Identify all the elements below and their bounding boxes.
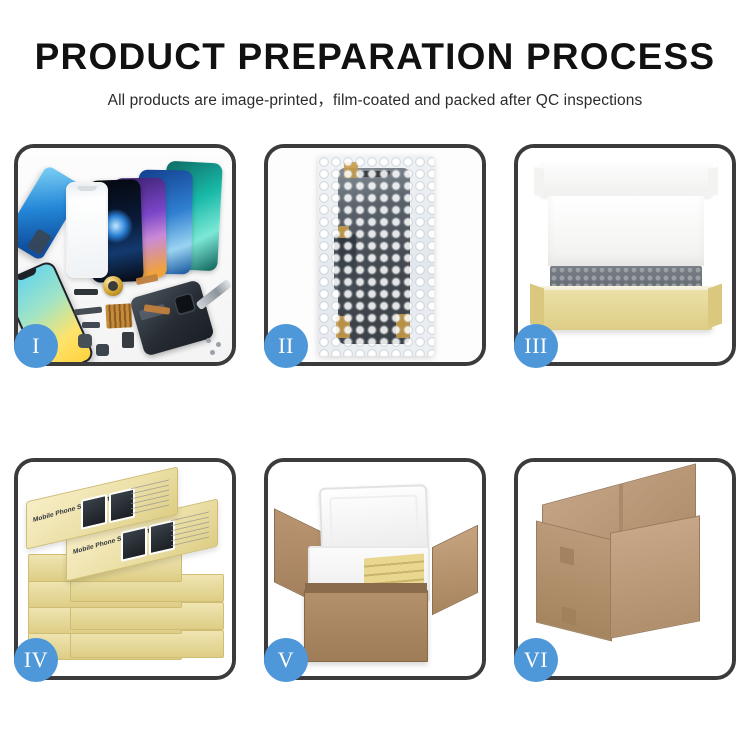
page-title: PRODUCT PREPARATION PROCESS [0, 38, 750, 75]
component-bar [74, 289, 98, 295]
tape-piece-1 [344, 162, 358, 178]
sim-tray [122, 332, 134, 348]
box-art-swatch [121, 526, 147, 562]
foam-box-lid [319, 484, 429, 554]
header: PRODUCT PREPARATION PROCESS All products… [0, 0, 750, 110]
kraft-box-base [540, 290, 712, 330]
chip-array [105, 303, 132, 328]
carton-tape-2 [562, 606, 576, 625]
step-badge-5: V [264, 638, 308, 682]
speaker-coil [103, 276, 123, 296]
flex-cable-3 [74, 307, 102, 316]
process-step-panel-3: III [514, 144, 736, 366]
stacked-box [70, 630, 224, 658]
box-lid-open [540, 162, 712, 198]
battery-connector [96, 344, 109, 356]
process-step-panel-2: II [264, 144, 486, 366]
camera-module [78, 334, 92, 348]
screen-flex-cable [334, 234, 356, 290]
flex-cable-4 [82, 322, 100, 328]
box-spec-lines [171, 510, 209, 547]
bubble-wrap-bag [318, 156, 434, 356]
tape-piece-2 [338, 226, 349, 238]
step-badge-4: IV [14, 638, 58, 682]
tempered-glass-screen [66, 182, 108, 278]
box-art-swatch [81, 494, 107, 530]
process-step-grid: I II [14, 144, 736, 682]
process-step-panel-5: V [264, 458, 486, 680]
phone-back-housing [129, 279, 215, 357]
box-stack: Mobile Phone Spare Parts Mobile Phone Sp… [26, 480, 224, 666]
tape-piece-4 [396, 314, 410, 338]
carton-right-face [610, 515, 700, 638]
shipping-carton-open [304, 590, 428, 662]
carton-tape-1 [560, 546, 574, 565]
page-subtitle: All products are image-printed，film-coat… [0, 88, 750, 110]
step-badge-2: II [264, 324, 308, 368]
white-foam-insert [548, 196, 704, 266]
process-step-panel-4: Mobile Phone Spare Parts Mobile Phone Sp… [14, 458, 236, 680]
process-step-panel-6: VI [514, 458, 736, 680]
tape-piece-3 [336, 316, 350, 338]
step-badge-3: III [514, 324, 558, 368]
product-preparation-infographic: PRODUCT PREPARATION PROCESS All products… [0, 0, 750, 750]
process-step-panel-1: I [14, 144, 236, 366]
screws [206, 338, 211, 343]
step-badge-1: I [14, 324, 58, 368]
carton-flap-right [432, 525, 478, 615]
box-spec-lines [131, 478, 169, 515]
step-badge-6: VI [514, 638, 558, 682]
